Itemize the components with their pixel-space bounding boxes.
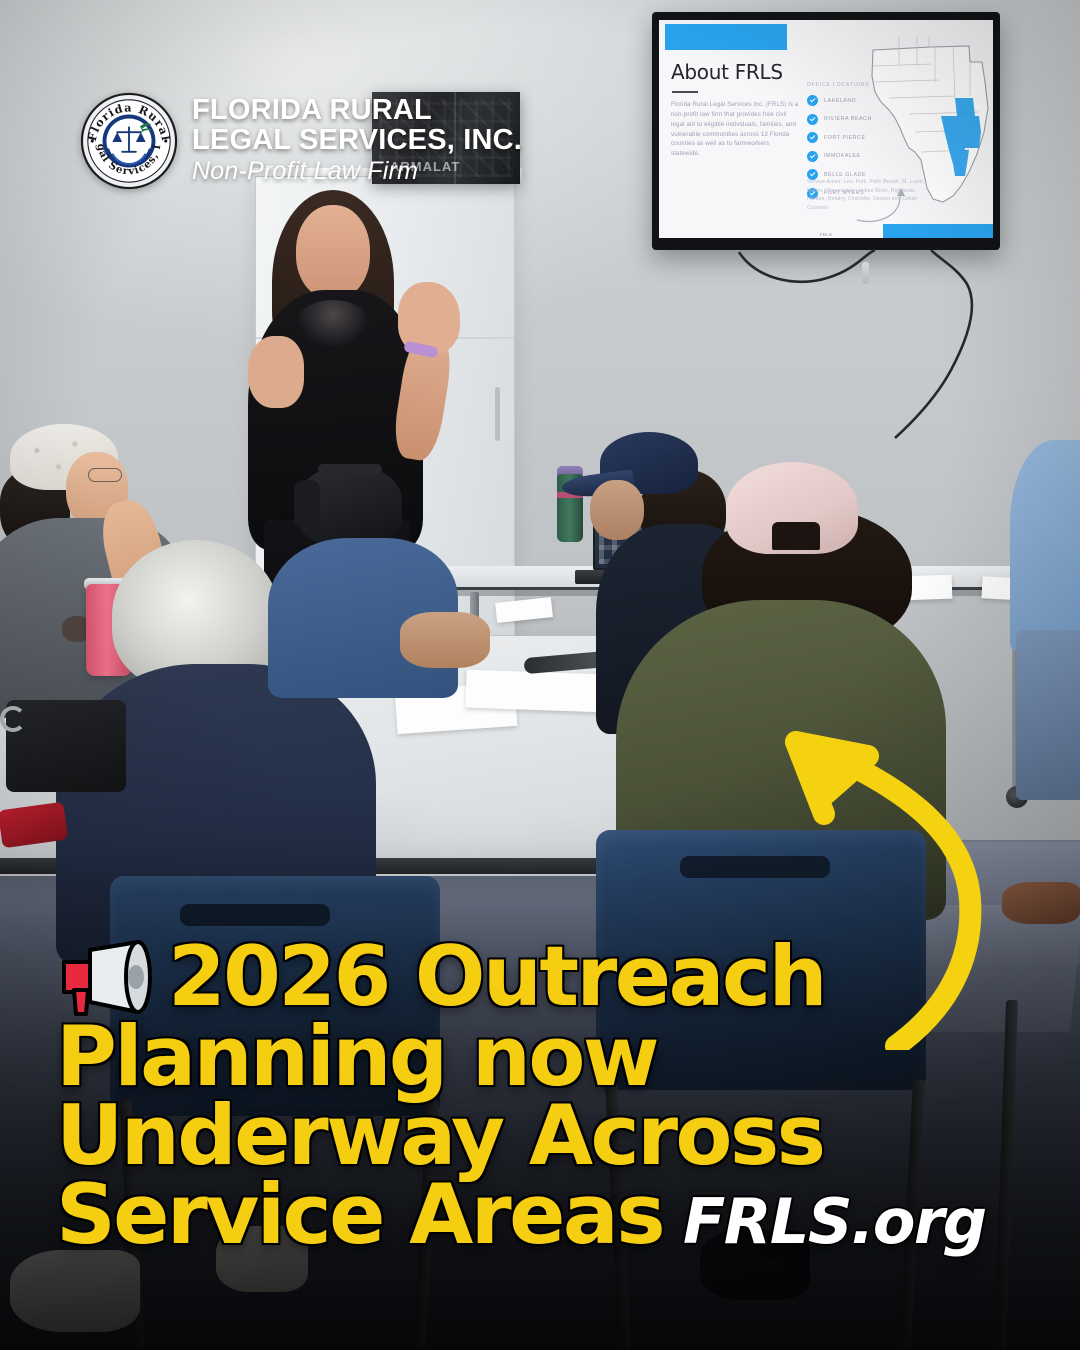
attendee-forearm — [400, 612, 490, 668]
office-location-label: RIVIERA BEACH — [824, 116, 872, 122]
attendee-eyeglasses — [88, 468, 122, 482]
social-post-image: ARMALAT About FRLS Florida Rural Legal S… — [0, 0, 1080, 1350]
office-location-label: FORT PIERCE — [824, 135, 866, 141]
slide-accent-top-left — [665, 24, 787, 50]
tv-screen: About FRLS Florida Rural Legal Services … — [659, 20, 993, 238]
bag-clasp — [0, 706, 26, 732]
check-circle-icon — [807, 114, 818, 125]
slide-title: About FRLS — [671, 60, 799, 84]
brand-line-1: FLORIDA RURAL — [192, 95, 522, 125]
tv-brand-mark: FRLS — [820, 232, 832, 237]
check-circle-icon — [807, 95, 818, 106]
slide-accent-bottom-right — [883, 224, 993, 238]
shoe — [1002, 882, 1080, 924]
headline-block: 2026 Outreach Planning now Underway Acro… — [56, 937, 956, 1258]
website-url: FRLS.org — [683, 1185, 986, 1258]
brand-text-block: FLORIDA RURAL LEGAL SERVICES, INC. Non-P… — [192, 95, 522, 188]
presentation-slide: About FRLS Florida Rural Legal Services … — [659, 20, 993, 238]
wall-mounted-tv: About FRLS Florida Rural Legal Services … — [652, 12, 1000, 250]
headline-line-4: Service Areas — [56, 1175, 663, 1254]
paper-sheet — [465, 670, 606, 713]
headline-line-2: Planning now — [56, 1017, 956, 1096]
headline-line-3: Underway Across — [56, 1096, 956, 1175]
cap-back-opening — [772, 522, 820, 550]
presenter-lace-neckline — [296, 300, 370, 348]
brand-header: Florida Rural Legal Services, Inc FLORID… — [80, 92, 522, 190]
attendee-face-profile — [590, 480, 644, 540]
headphones-earcup-icon — [294, 480, 320, 528]
check-circle-icon — [807, 132, 818, 143]
chair-handle-slot — [180, 904, 330, 926]
check-circle-icon — [807, 151, 818, 162]
headline-line-4-row: Service Areas FRLS.org — [56, 1175, 956, 1258]
cabinet-handle — [495, 387, 500, 441]
office-location-label: BELLE GLADE — [824, 172, 866, 178]
slide-body-text: Florida Rural Legal Services Inc. (FRLS)… — [671, 100, 799, 159]
slide-left-column: About FRLS Florida Rural Legal Services … — [671, 60, 799, 159]
presenter-face — [296, 205, 370, 299]
frls-seal-logo-icon: Florida Rural Legal Services, Inc — [80, 92, 178, 190]
headline-line-1-row: 2026 Outreach — [56, 937, 956, 1016]
presenter-left-hand — [248, 336, 304, 408]
office-location-label: IMMOKALEE — [824, 153, 861, 159]
office-location-label: LAKELAND — [824, 98, 856, 104]
headphones-headband-icon — [318, 464, 382, 474]
brand-tagline: Non-Profit Law Firm — [192, 156, 522, 187]
headline-line-1: 2026 Outreach — [168, 937, 825, 1016]
brand-line-2: LEGAL SERVICES, INC. — [192, 125, 522, 155]
attendee-jeans — [1016, 630, 1080, 800]
tv-wall-mount — [862, 262, 869, 284]
slide-title-rule — [672, 91, 698, 93]
megaphone-icon — [56, 940, 160, 1018]
slide-pointer-arrow-icon — [855, 182, 925, 224]
attendee-light-blue-shirt — [1010, 440, 1080, 650]
